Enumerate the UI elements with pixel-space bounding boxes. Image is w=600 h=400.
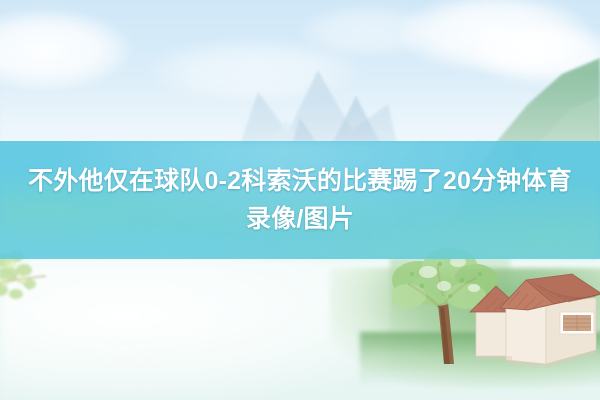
text-overlay-band: 不外他仅在球队0-2科索沃的比赛踢了20分钟体育 录像/图片 — [0, 141, 600, 259]
cottage-house — [468, 272, 600, 374]
landscape-image-card: 不外他仅在球队0-2科索沃的比赛踢了20分钟体育 录像/图片 — [0, 0, 600, 400]
overlay-text-line-2: 录像/图片 — [246, 201, 354, 237]
overlay-text-line-1: 不外他仅在球队0-2科索沃的比赛踢了20分钟体育 — [28, 163, 572, 199]
overlay-text-block: 不外他仅在球队0-2科索沃的比赛踢了20分钟体育 录像/图片 — [0, 141, 600, 259]
leaf-branch-icon — [0, 250, 74, 320]
